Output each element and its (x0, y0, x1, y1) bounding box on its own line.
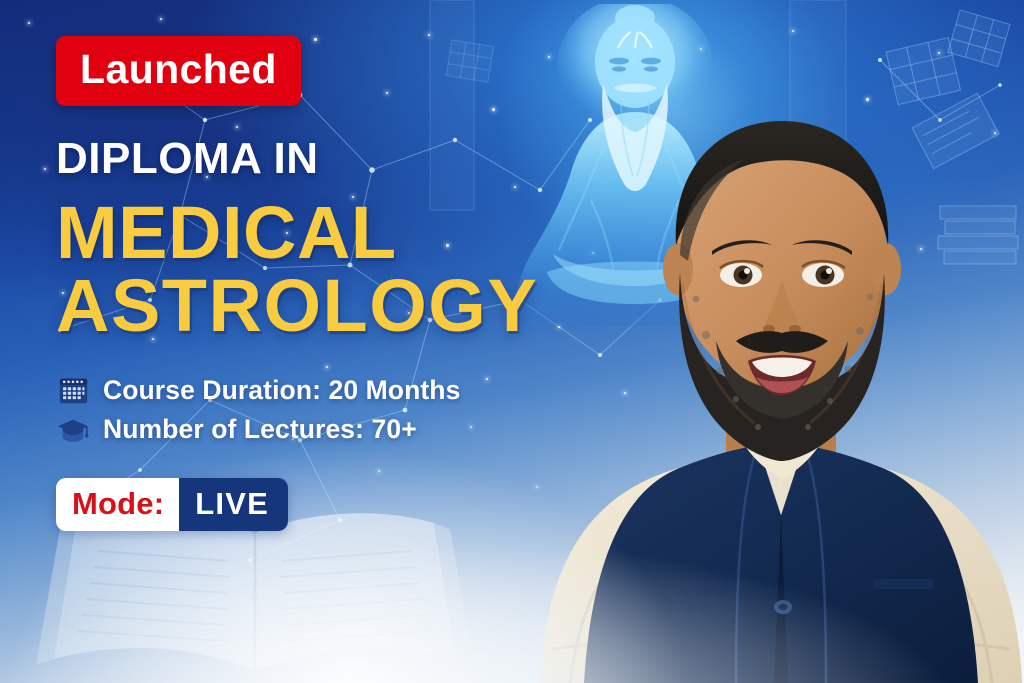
fact-row-lectures: Number of Lectures: 70+ (56, 413, 596, 447)
fact-text-duration: Course Duration: 20 Months (103, 375, 460, 406)
instructor-portrait (530, 83, 1024, 683)
launched-badge: Launched (56, 36, 301, 106)
fact-row-duration: Course Duration: 20 Months (56, 374, 596, 408)
title-line-1: MEDICAL (56, 191, 397, 274)
banner-content: Launched DIPLOMA IN MEDICAL ASTROLOGY (56, 36, 596, 531)
calendar-icon (56, 374, 90, 408)
page-title: MEDICAL ASTROLOGY (56, 196, 596, 343)
promo-banner: Launched DIPLOMA IN MEDICAL ASTROLOGY (0, 0, 1024, 683)
mode-label: Mode: (56, 478, 179, 531)
mode-value: LIVE (179, 478, 288, 531)
mode-badge: Mode: LIVE (56, 478, 288, 531)
course-facts-list: Course Duration: 20 Months Number of Lec… (56, 374, 596, 447)
graduation-cap-icon (56, 413, 90, 447)
headline-eyebrow: DIPLOMA IN (56, 137, 596, 181)
title-line-2: ASTROLOGY (56, 269, 596, 342)
fact-text-lectures: Number of Lectures: 70+ (103, 414, 417, 445)
